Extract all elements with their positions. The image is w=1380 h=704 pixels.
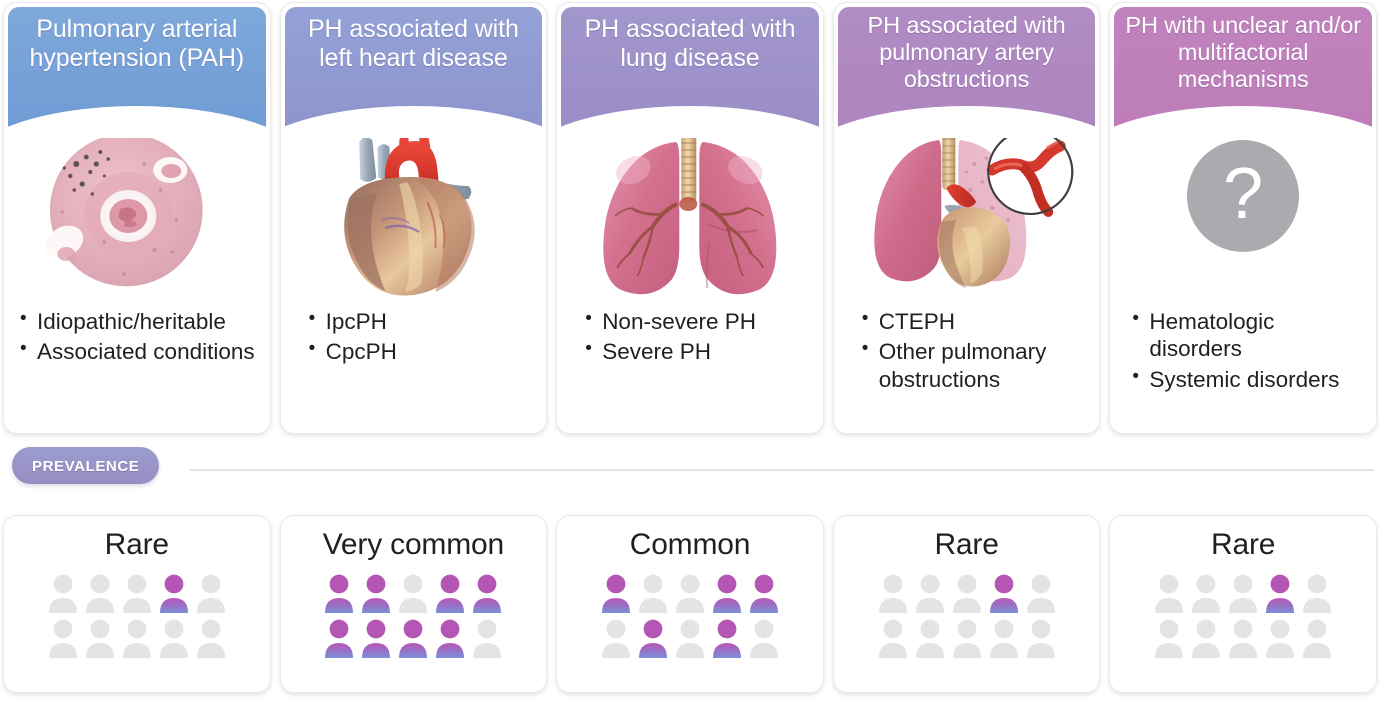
person-icon-muted: [470, 616, 504, 661]
group-card-5-illustration: ?: [1110, 124, 1376, 302]
lungs-icon: [557, 124, 823, 302]
header-arc-decoration: [285, 106, 543, 138]
person-icon-muted: [46, 616, 80, 661]
group-card-5-list: Hematologic disorders Systemic disorders: [1110, 302, 1376, 433]
group-card-5-header: PH with unclear and/or multifactorial me…: [1114, 7, 1372, 138]
heart-icon: [281, 124, 547, 302]
person-icon-muted: [747, 616, 781, 661]
person-icon-muted: [876, 616, 910, 661]
person-icon-muted: [46, 571, 80, 616]
group-card-2-illustration: [281, 124, 547, 302]
person-icon-muted: [1189, 616, 1223, 661]
person-icon-muted: [157, 616, 191, 661]
prevalence-card-1-label: Rare: [105, 528, 169, 561]
prevalence-card-5[interactable]: Rare: [1109, 515, 1377, 693]
list-item: Non-severe PH: [583, 308, 813, 335]
list-item: Idiopathic/heritable: [18, 308, 260, 335]
list-item: CTEPH: [860, 308, 1090, 335]
person-icon-highlighted: [1263, 571, 1297, 616]
person-icon-muted: [1024, 571, 1058, 616]
people-pictogram-1: [46, 571, 228, 661]
list-item: Associated conditions: [18, 338, 260, 365]
person-icon-highlighted: [599, 571, 633, 616]
person-icon-highlighted: [710, 571, 744, 616]
group-card-3[interactable]: PH associated with lung disease: [556, 2, 824, 434]
person-icon-muted: [1152, 616, 1186, 661]
person-icon-muted: [913, 571, 947, 616]
prevalence-card-2-label: Very common: [323, 528, 504, 561]
prevalence-card-2[interactable]: Very common: [280, 515, 548, 693]
group-card-1-list: Idiopathic/heritable Associated conditio…: [4, 302, 270, 433]
lungs-heart-magnifier-icon: [834, 124, 1100, 302]
list-item: CpcPH: [307, 338, 537, 365]
person-icon-highlighted: [157, 571, 191, 616]
person-icon-highlighted: [359, 616, 393, 661]
person-icon-muted: [1189, 571, 1223, 616]
divider-line: [190, 469, 1374, 471]
person-icon-muted: [1024, 616, 1058, 661]
people-pictogram-2: [322, 571, 504, 661]
person-icon-highlighted: [433, 616, 467, 661]
person-icon-muted: [194, 571, 228, 616]
list-item: Severe PH: [583, 338, 813, 365]
people-pictogram-3: [599, 571, 781, 661]
group-card-3-header: PH associated with lung disease: [561, 7, 819, 138]
header-arc-decoration: [1114, 106, 1372, 138]
person-icon-highlighted: [636, 616, 670, 661]
prevalence-card-3-label: Common: [630, 528, 751, 561]
group-card-3-title: PH associated with lung disease: [561, 7, 819, 72]
question-mark-icon: ?: [1187, 140, 1299, 252]
person-icon-muted: [120, 571, 154, 616]
person-icon-muted: [1263, 616, 1297, 661]
prevalence-card-4[interactable]: Rare: [833, 515, 1101, 693]
list-item: Hematologic disorders: [1130, 308, 1366, 363]
prevalence-section-divider: Prevalence: [0, 444, 1380, 496]
list-item: Systemic disorders: [1130, 366, 1366, 393]
person-icon-muted: [913, 616, 947, 661]
group-card-5[interactable]: PH with unclear and/or multifactorial me…: [1109, 2, 1377, 434]
person-icon-muted: [987, 616, 1021, 661]
group-card-1-header: Pulmonary arterial hypertension (PAH): [8, 7, 266, 138]
person-icon-muted: [673, 571, 707, 616]
person-icon-muted: [1226, 616, 1260, 661]
prevalence-card-5-label: Rare: [1211, 528, 1275, 561]
list-item: IpcPH: [307, 308, 537, 335]
person-icon-highlighted: [322, 616, 356, 661]
prevalence-card-1[interactable]: Rare: [3, 515, 271, 693]
group-card-2-list: IpcPH CpcPH: [281, 302, 547, 433]
group-card-3-list: Non-severe PH Severe PH: [557, 302, 823, 433]
prevalence-cards-row: Rare Very common Common Rare Rare: [0, 515, 1380, 693]
header-arc-decoration: [8, 106, 266, 138]
group-card-1[interactable]: Pulmonary arterial hypertension (PAH): [3, 2, 271, 434]
group-card-4-title: PH associated with pulmonary artery obst…: [838, 7, 1096, 92]
group-card-1-illustration: [4, 124, 270, 302]
group-card-1-title: Pulmonary arterial hypertension (PAH): [8, 7, 266, 72]
group-card-4-illustration: [834, 124, 1100, 302]
person-icon-muted: [1226, 571, 1260, 616]
person-icon-muted: [396, 571, 430, 616]
person-icon-highlighted: [470, 571, 504, 616]
header-arc-decoration: [561, 106, 819, 138]
classification-cards-row: Pulmonary arterial hypertension (PAH): [0, 2, 1380, 434]
group-card-4-list: CTEPH Other pulmonary obstructions: [834, 302, 1100, 433]
person-icon-muted: [1300, 616, 1334, 661]
person-icon-muted: [950, 616, 984, 661]
group-card-4[interactable]: PH associated with pulmonary artery obst…: [833, 2, 1101, 434]
histology-slide-icon: [4, 124, 270, 302]
prevalence-card-4-label: Rare: [934, 528, 998, 561]
person-icon-muted: [876, 571, 910, 616]
group-card-3-illustration: [557, 124, 823, 302]
person-icon-muted: [599, 616, 633, 661]
person-icon-muted: [1152, 571, 1186, 616]
person-icon-muted: [83, 571, 117, 616]
header-arc-decoration: [838, 106, 1096, 138]
person-icon-muted: [950, 571, 984, 616]
person-icon-muted: [83, 616, 117, 661]
list-item: Other pulmonary obstructions: [860, 338, 1090, 393]
person-icon-highlighted: [710, 616, 744, 661]
group-card-2-header: PH associated with left heart disease: [285, 7, 543, 138]
person-icon-highlighted: [987, 571, 1021, 616]
prevalence-label: Prevalence: [12, 447, 159, 484]
person-icon-muted: [636, 571, 670, 616]
group-card-5-title: PH with unclear and/or multifactorial me…: [1114, 7, 1372, 92]
group-card-4-header: PH associated with pulmonary artery obst…: [838, 7, 1096, 138]
person-icon-highlighted: [322, 571, 356, 616]
group-card-2-title: PH associated with left heart disease: [285, 7, 543, 72]
person-icon-highlighted: [396, 616, 430, 661]
person-icon-muted: [120, 616, 154, 661]
person-icon-muted: [1300, 571, 1334, 616]
people-pictogram-5: [1152, 571, 1334, 661]
prevalence-card-3[interactable]: Common: [556, 515, 824, 693]
people-pictogram-4: [876, 571, 1058, 661]
question-mark-glyph: ?: [1223, 158, 1263, 230]
group-card-2[interactable]: PH associated with left heart disease: [280, 2, 548, 434]
person-icon-muted: [194, 616, 228, 661]
person-icon-highlighted: [433, 571, 467, 616]
person-icon-highlighted: [359, 571, 393, 616]
person-icon-muted: [673, 616, 707, 661]
person-icon-highlighted: [747, 571, 781, 616]
